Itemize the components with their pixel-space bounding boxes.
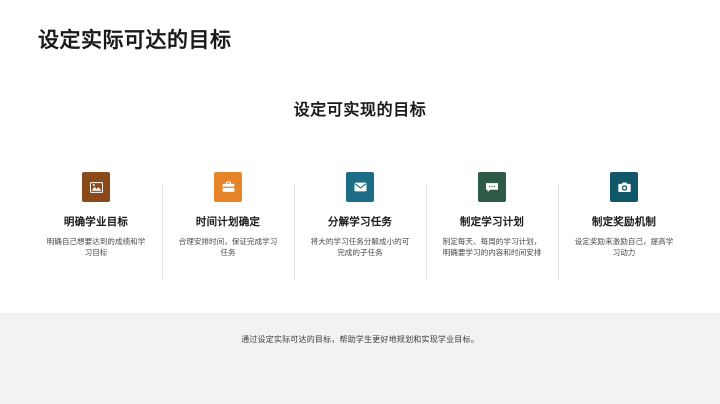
section-heading: 设定可实现的目标 [0,96,720,120]
briefcase-icon [214,172,242,202]
footer-note: 通过设定实际可达的目标，帮助学生更好地规划和实现学业目标。 [0,334,720,345]
envelope-icon [346,172,374,202]
chat-bubble-icon [478,172,506,202]
card-description: 合理安排时间，保证完成学习任务 [176,236,280,260]
feature-card[interactable]: 时间计划确定 合理安排时间，保证完成学习任务 [162,172,294,259]
feature-card[interactable]: 制定学习计划 制定每天、每周的学习计划，明确要学习的内容和时间安排 [426,172,558,259]
feature-cards-row: 明确学业目标 明确自己想要达到的成绩和学习目标 时间计划确定 合理安排时间，保证… [30,172,690,259]
card-title: 时间计划确定 [196,216,260,230]
card-description: 制定每天、每周的学习计划，明确要学习的内容和时间安排 [440,236,544,260]
card-description: 将大的学习任务分解成小的可完成的子任务 [308,236,412,260]
image-icon [82,172,110,202]
camera-icon [610,172,638,202]
card-title: 明确学业目标 [64,216,128,230]
feature-card[interactable]: 分解学习任务 将大的学习任务分解成小的可完成的子任务 [294,172,426,259]
card-title: 分解学习任务 [328,216,392,230]
footer-band [0,313,720,404]
page-title: 设定实际可达的目标 [38,28,232,53]
feature-card[interactable]: 明确学业目标 明确自己想要达到的成绩和学习目标 [30,172,162,259]
card-title: 制定学习计划 [460,216,524,230]
slide-canvas: 设定实际可达的目标 设定可实现的目标 明确学业目标 明确自己想要达到的成绩和学习… [0,0,720,404]
feature-card[interactable]: 制定奖励机制 设定奖励来激励自己，提高学习动力 [558,172,690,259]
card-description: 明确自己想要达到的成绩和学习目标 [44,236,148,260]
card-title: 制定奖励机制 [592,216,656,230]
card-description: 设定奖励来激励自己，提高学习动力 [572,236,676,260]
